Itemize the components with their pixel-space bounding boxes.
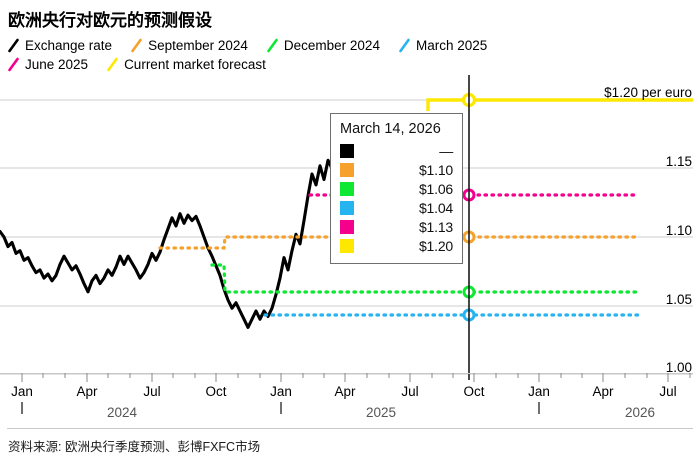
tooltip-row-exchange-rate: — — [340, 141, 453, 160]
tooltip-value: — — [439, 143, 453, 159]
tooltip-value: $1.10 — [419, 162, 453, 178]
x-tick-label: Apr — [334, 384, 355, 399]
legend-item-december-2024[interactable]: December 2024 — [266, 38, 380, 53]
source-note: 资料来源: 欧洲央行季度预测、彭博FXFC市场 — [8, 436, 260, 455]
tooltip-value: $1.20 — [419, 238, 453, 254]
tooltip-value: $1.13 — [419, 219, 453, 235]
legend-item-exchange-rate[interactable]: Exchange rate — [7, 38, 112, 53]
legend-item-march-2025[interactable]: March 2025 — [398, 38, 487, 53]
x-year-label: 2025 — [366, 405, 396, 420]
series-line-march-2025 — [265, 310, 638, 320]
chart-legend: Exchange rate September 2024 December 20… — [7, 36, 693, 74]
tooltip-row-current-market-forecast: $1.20 — [340, 236, 453, 255]
color-swatch-icon — [340, 201, 354, 215]
legend-item-september-2024[interactable]: September 2024 — [130, 38, 248, 53]
x-tick-label: Jul — [659, 384, 676, 399]
slash-icon — [130, 38, 143, 53]
tooltip-row-march-2025: $1.04 — [340, 198, 453, 217]
tooltip-value: $1.04 — [419, 200, 453, 216]
legend-item-label: Current market forecast — [124, 57, 266, 72]
chart-page: 欧洲央行对欧元的预测假设 Exchange rate September 202… — [0, 0, 700, 459]
legend-row: June 2025 Current market forecast — [7, 55, 693, 74]
x-tick-label: Apr — [76, 384, 97, 399]
series-line-current-market-forecast — [428, 95, 693, 112]
slash-icon — [106, 57, 119, 72]
legend-item-label: March 2025 — [416, 38, 487, 53]
x-tick-label: Oct — [463, 384, 484, 399]
slash-icon — [398, 38, 411, 53]
legend-item-label: December 2024 — [284, 38, 380, 53]
x-tick-label: Apr — [592, 384, 613, 399]
x-tick-label: Jan — [11, 384, 33, 399]
color-swatch-icon — [340, 182, 354, 196]
tooltip-row-december-2024: $1.06 — [340, 179, 453, 198]
color-swatch-icon — [340, 239, 354, 253]
tooltip-row-june-2025: $1.13 — [340, 217, 453, 236]
x-tick-label: Jan — [528, 384, 550, 399]
legend-item-label: Exchange rate — [25, 38, 112, 53]
legend-item-label: June 2025 — [25, 57, 88, 72]
slash-icon — [266, 38, 279, 53]
legend-row: Exchange rate September 2024 December 20… — [7, 36, 693, 55]
x-year-label: 2024 — [107, 405, 137, 420]
legend-item-current-market-forecast[interactable]: Current market forecast — [106, 57, 266, 72]
legend-item-june-2025[interactable]: June 2025 — [7, 57, 88, 72]
x-tick-label: Jul — [143, 384, 160, 399]
color-swatch-icon — [340, 163, 354, 177]
tooltip-date: March 14, 2026 — [340, 121, 453, 137]
tooltip-value: $1.06 — [419, 181, 453, 197]
page-title: 欧洲央行对欧元的预测假设 — [8, 6, 212, 31]
x-tick-label: Jul — [401, 384, 418, 399]
x-tick-label: Jan — [270, 384, 292, 399]
slash-icon — [7, 57, 20, 72]
x-tick-label: Oct — [205, 384, 226, 399]
legend-item-label: September 2024 — [148, 38, 248, 53]
chart-tooltip: March 14, 2026 — $1.10 $1.06 $1.04 $1.13… — [330, 113, 463, 264]
slash-icon — [7, 38, 20, 53]
footer-divider — [7, 428, 693, 429]
x-year-ticks — [0, 402, 700, 424]
series-line-exchange-rate — [0, 141, 348, 327]
series-line-december-2024 — [212, 265, 638, 297]
x-axis: Jan Apr Jul Oct Jan Apr Jul Oct Jan Apr … — [0, 372, 700, 432]
tooltip-row-september-2024: $1.10 — [340, 160, 453, 179]
color-swatch-icon — [340, 144, 354, 158]
color-swatch-icon — [340, 220, 354, 234]
x-year-label: 2026 — [625, 405, 655, 420]
